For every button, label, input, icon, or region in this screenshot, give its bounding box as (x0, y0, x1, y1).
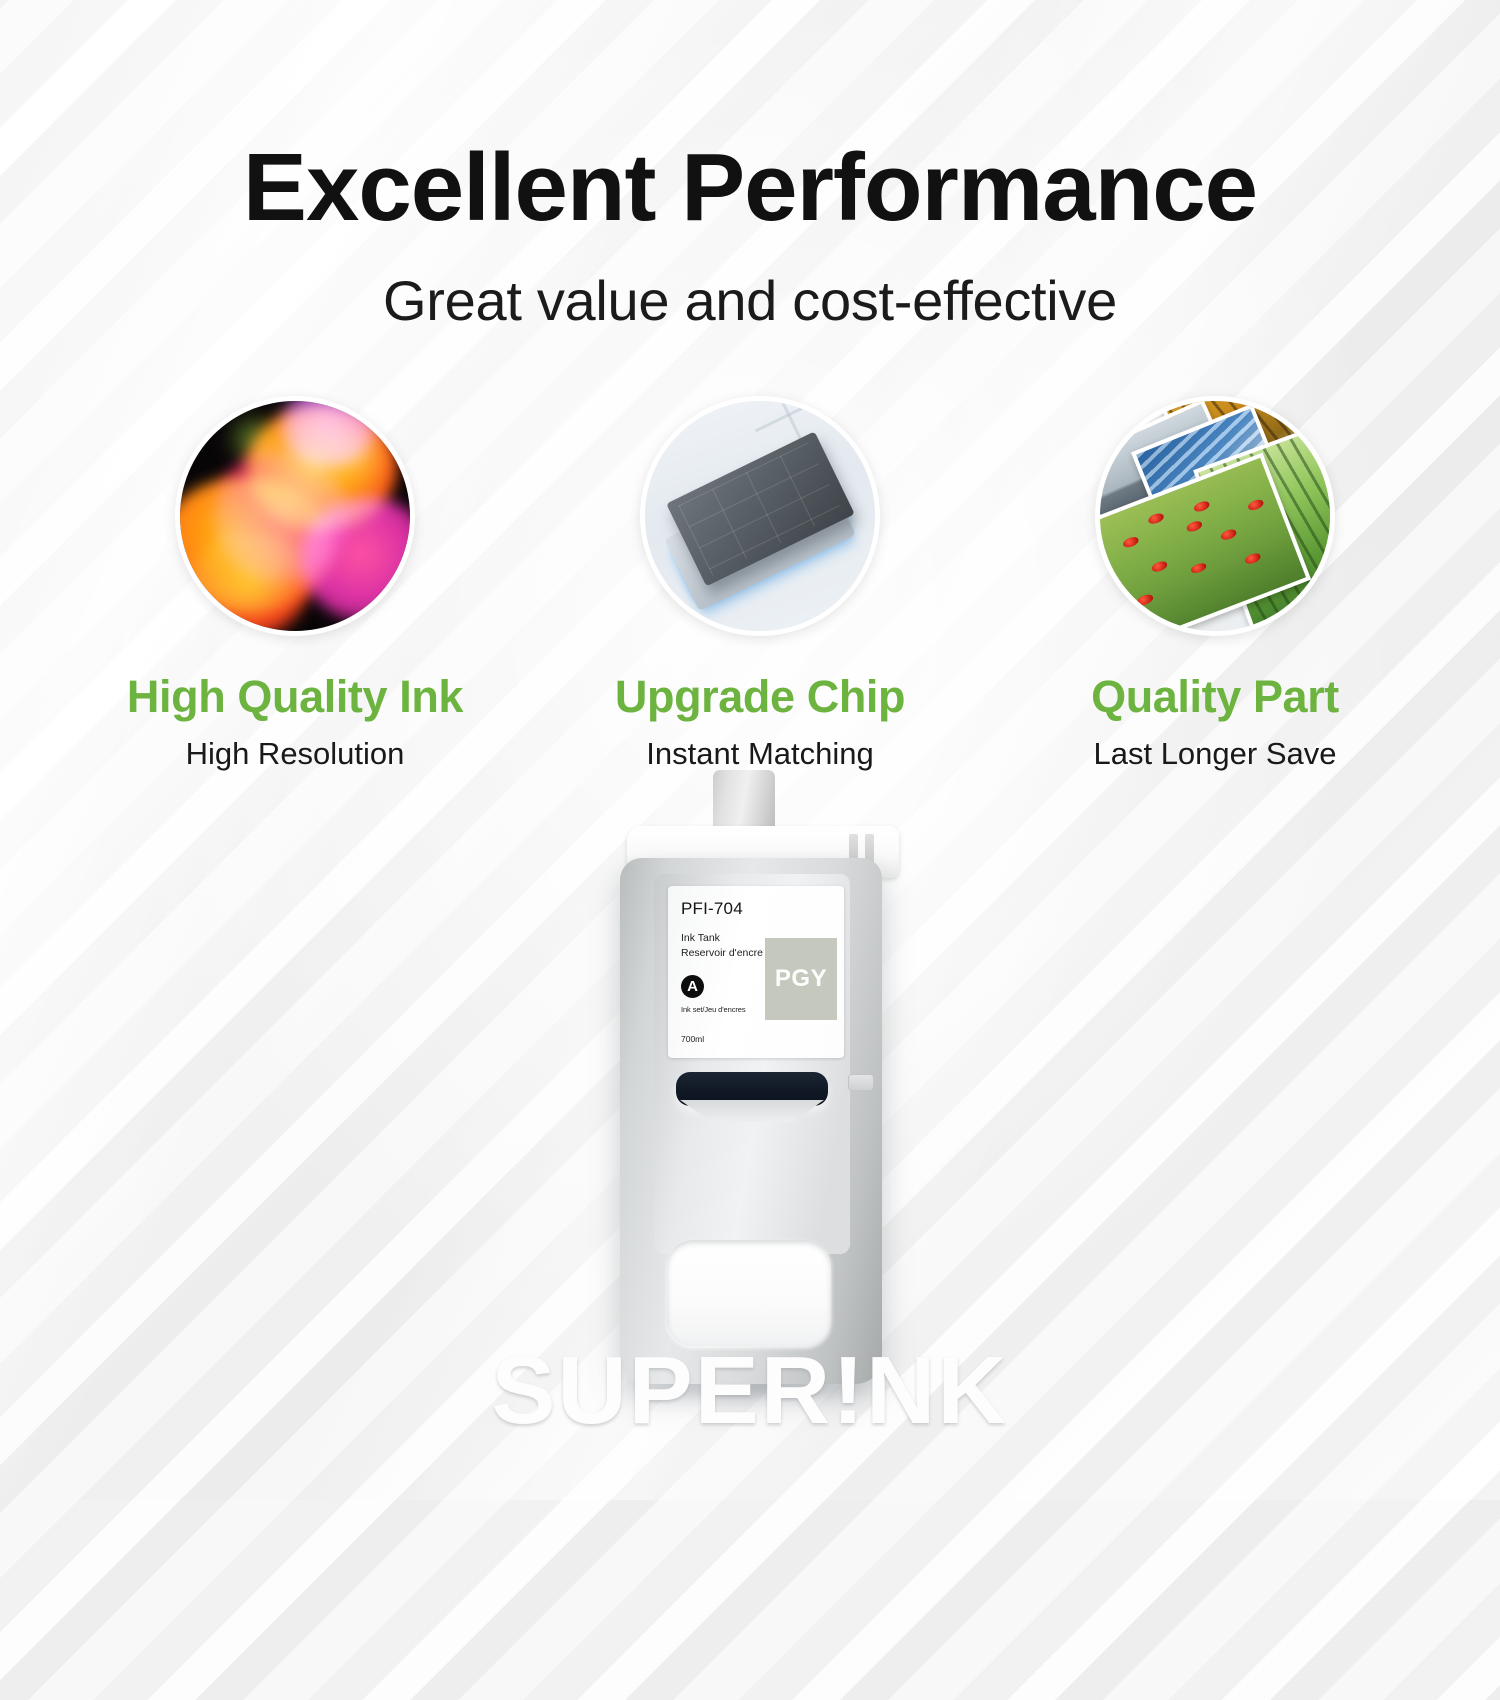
label-model-number: PFI-704 (681, 899, 844, 919)
product-label: PFI-704 Ink Tank Reservoir d'encre A Ink… (668, 886, 844, 1058)
feature-title: Quality Part (995, 672, 1435, 722)
feature-subtitle: Last Longer Save (995, 736, 1435, 772)
feature-high-quality-ink: High Quality Ink High Resolution (75, 396, 515, 772)
cartridge-body: PFI-704 Ink Tank Reservoir d'encre A Ink… (620, 858, 882, 1384)
color-swatch: PGY (765, 938, 837, 1020)
feature-image-circle-chip (640, 396, 880, 636)
feature-subtitle: High Resolution (75, 736, 515, 772)
feature-title: High Quality Ink (75, 672, 515, 722)
page-subtitle: Great value and cost-effective (0, 268, 1500, 333)
feature-subtitle: Instant Matching (540, 736, 980, 772)
label-volume: 700ml (681, 1034, 844, 1044)
cartridge-side-tab (848, 1074, 874, 1091)
ink-splash-icon (175, 396, 415, 636)
chip-icon (640, 396, 880, 636)
color-code-text: PGY (775, 965, 827, 993)
feature-image-circle-photos (1095, 396, 1335, 636)
page-title: Excellent Performance (0, 138, 1500, 238)
promo-banner: Excellent Performance Great value and co… (0, 0, 1500, 1500)
cartridge-handle-cutout (667, 1240, 831, 1346)
photo-prints-icon (1095, 396, 1335, 636)
ink-cartridge-product: PFI-704 Ink Tank Reservoir d'encre A Ink… (600, 770, 920, 1410)
ink-set-a-mark-icon: A (681, 975, 704, 998)
feature-quality-part: Quality Part Last Longer Save (995, 396, 1435, 772)
feature-image-circle-ink (175, 396, 415, 636)
feature-title: Upgrade Chip (540, 672, 980, 722)
feature-upgrade-chip: Upgrade Chip Instant Matching (540, 396, 980, 772)
